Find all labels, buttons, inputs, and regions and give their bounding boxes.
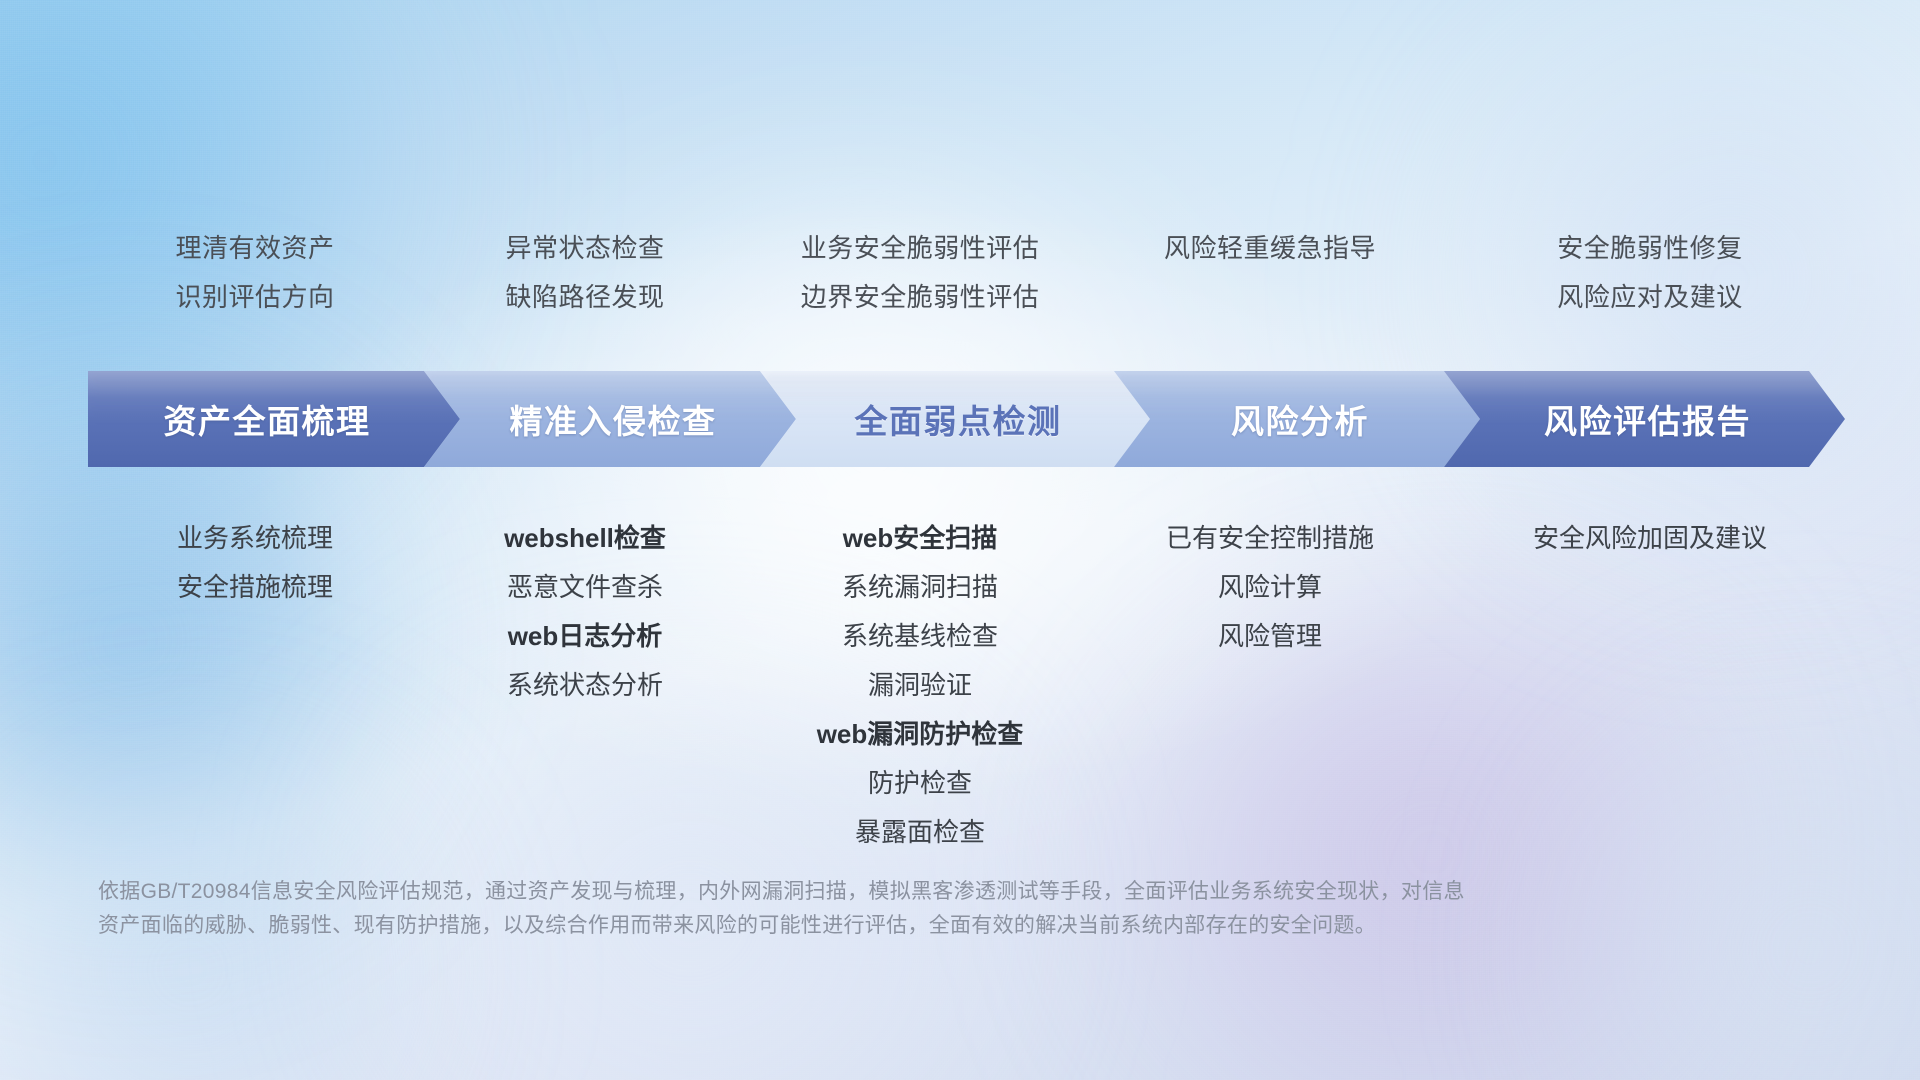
stage-bottom-item: web漏洞防护检查 bbox=[750, 710, 1090, 759]
stage-bottom-item: 风险管理 bbox=[1090, 612, 1450, 661]
stage-bottom-item: web日志分析 bbox=[420, 612, 750, 661]
process-stage-title: 资产全面梳理 bbox=[164, 395, 371, 443]
stage-top-item: 风险应对及建议 bbox=[1450, 273, 1850, 322]
stage-top-item: 边界安全脆弱性评估 bbox=[750, 273, 1090, 322]
process-stage-1[interactable]: 资产全面梳理 bbox=[88, 371, 460, 467]
stage-top-column-2: 异常状态检查缺陷路径发现 bbox=[420, 224, 750, 322]
process-stage-title: 风险评估报告 bbox=[1544, 395, 1751, 443]
stage-bottom-item: webshell检查 bbox=[420, 514, 750, 563]
stage-top-column-5: 安全脆弱性修复风险应对及建议 bbox=[1450, 224, 1850, 322]
stage-bottom-item: web安全扫描 bbox=[750, 514, 1090, 563]
stage-bottom-item: 系统漏洞扫描 bbox=[750, 563, 1090, 612]
footer-line-1: 依据GB/T20984信息安全风险评估规范，通过资产发现与梳理，内外网漏洞扫描，… bbox=[98, 875, 1718, 909]
process-stage-3[interactable]: 全面弱点检测 bbox=[760, 371, 1150, 467]
process-chevron-bar: 资产全面梳理精准入侵检查全面弱点检测风险分析风险评估报告 bbox=[88, 371, 1845, 467]
footer-line-2: 资产面临的威胁、脆弱性、现有防护措施，以及综合作用而带来风险的可能性进行评估，全… bbox=[98, 909, 1718, 943]
process-stage-title: 精准入侵检查 bbox=[510, 395, 717, 443]
stage-bottom-item: 业务系统梳理 bbox=[90, 514, 420, 563]
stage-top-column-3: 业务安全脆弱性评估边界安全脆弱性评估 bbox=[750, 224, 1090, 322]
stage-bottom-item: 恶意文件查杀 bbox=[420, 563, 750, 612]
process-stage-5[interactable]: 风险评估报告 bbox=[1444, 371, 1845, 467]
stage-bottom-column-2: webshell检查恶意文件查杀web日志分析系统状态分析 bbox=[420, 514, 750, 710]
process-stage-title: 风险分析 bbox=[1231, 395, 1369, 443]
stage-bottom-column-3: web安全扫描系统漏洞扫描系统基线检查漏洞验证web漏洞防护检查防护检查暴露面检… bbox=[750, 514, 1090, 857]
stage-bottom-item: 已有安全控制措施 bbox=[1090, 514, 1450, 563]
stage-top-item: 理清有效资产 bbox=[90, 224, 420, 273]
stage-top-item: 风险轻重缓急指导 bbox=[1090, 224, 1450, 273]
stage-bottom-column-1: 业务系统梳理安全措施梳理 bbox=[90, 514, 420, 612]
process-stage-title: 全面弱点检测 bbox=[855, 395, 1062, 443]
stage-top-item: 异常状态检查 bbox=[420, 224, 750, 273]
stage-bottom-item: 安全风险加固及建议 bbox=[1450, 514, 1850, 563]
footer-description: 依据GB/T20984信息安全风险评估规范，通过资产发现与梳理，内外网漏洞扫描，… bbox=[98, 875, 1718, 943]
stage-bottom-item: 系统状态分析 bbox=[420, 661, 750, 710]
stage-bottom-lists: 业务系统梳理安全措施梳理webshell检查恶意文件查杀web日志分析系统状态分… bbox=[90, 514, 1850, 857]
stage-bottom-column-5: 安全风险加固及建议 bbox=[1450, 514, 1850, 563]
stage-bottom-item: 系统基线检查 bbox=[750, 612, 1090, 661]
stage-bottom-item: 暴露面检查 bbox=[750, 808, 1090, 857]
process-stage-2[interactable]: 精准入侵检查 bbox=[424, 371, 796, 467]
stage-bottom-item: 安全措施梳理 bbox=[90, 563, 420, 612]
stage-bottom-item: 风险计算 bbox=[1090, 563, 1450, 612]
stage-top-item: 业务安全脆弱性评估 bbox=[750, 224, 1090, 273]
stage-bottom-item: 防护检查 bbox=[750, 759, 1090, 808]
stage-bottom-item: 漏洞验证 bbox=[750, 661, 1090, 710]
stage-top-column-1: 理清有效资产识别评估方向 bbox=[90, 224, 420, 322]
stage-top-item: 识别评估方向 bbox=[90, 273, 420, 322]
stage-top-item: 安全脆弱性修复 bbox=[1450, 224, 1850, 273]
process-stage-4[interactable]: 风险分析 bbox=[1114, 371, 1480, 467]
process-diagram: 理清有效资产识别评估方向异常状态检查缺陷路径发现业务安全脆弱性评估边界安全脆弱性… bbox=[0, 0, 1920, 1080]
stage-top-column-4: 风险轻重缓急指导 bbox=[1090, 224, 1450, 322]
stage-top-labels: 理清有效资产识别评估方向异常状态检查缺陷路径发现业务安全脆弱性评估边界安全脆弱性… bbox=[90, 224, 1850, 322]
stage-top-item: 缺陷路径发现 bbox=[420, 273, 750, 322]
stage-bottom-column-4: 已有安全控制措施风险计算风险管理 bbox=[1090, 514, 1450, 661]
